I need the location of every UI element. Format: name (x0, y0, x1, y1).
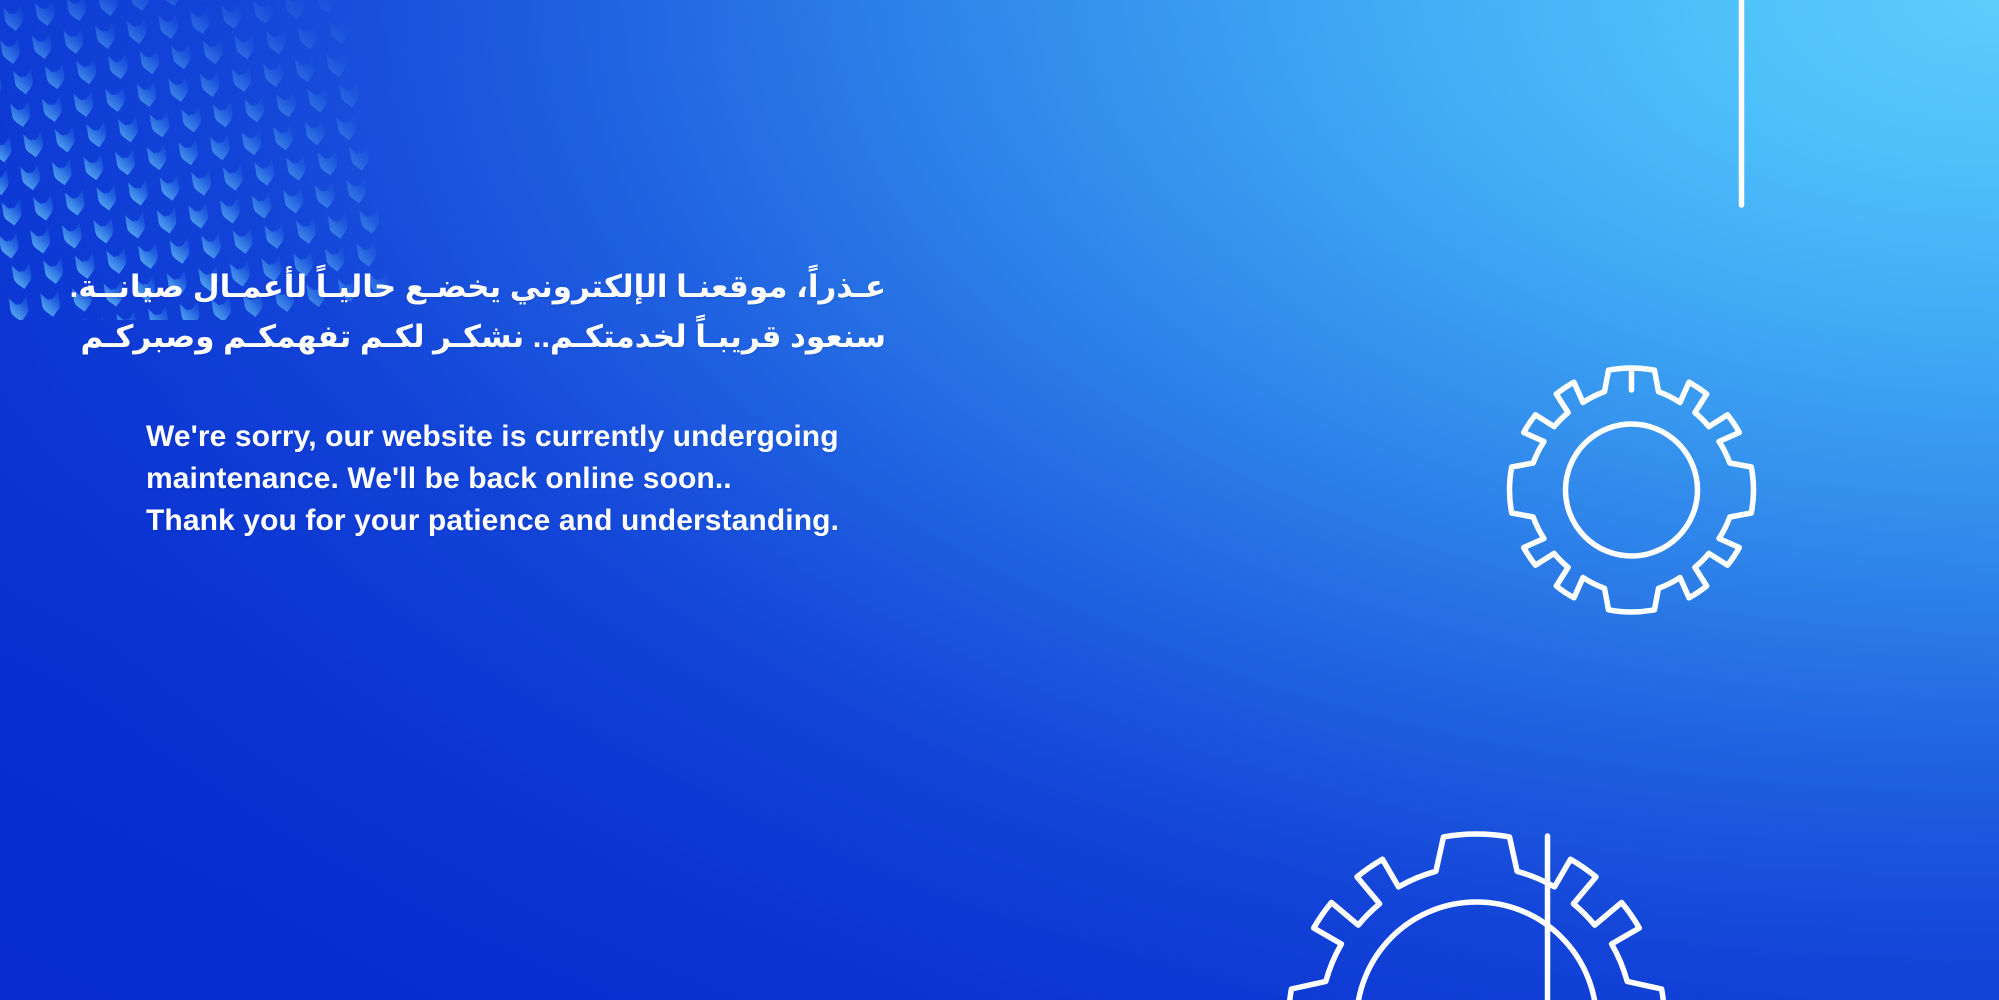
english-line-1: We're sorry, our website is currently un… (146, 416, 926, 458)
maintenance-message: عـذراً، موقعنـا الإلكتروني يخضـع حاليـاً… (146, 262, 926, 542)
arabic-message: عـذراً، موقعنـا الإلكتروني يخضـع حاليـاً… (146, 262, 886, 362)
english-line-2: maintenance. We'll be back online soon.. (146, 458, 926, 500)
maintenance-page: عـذراً، موقعنـا الإلكتروني يخضـع حاليـاً… (0, 0, 1999, 1000)
english-message: We're sorry, our website is currently un… (146, 362, 926, 542)
arabic-line-1: عـذراً، موقعنـا الإلكتروني يخضـع حاليـاً… (146, 262, 886, 312)
arabic-line-2: سنعود قريبـاً لخدمتكـم.. نشكـر لكـم تفهم… (146, 312, 886, 362)
english-line-3: Thank you for your patience and understa… (146, 500, 926, 542)
